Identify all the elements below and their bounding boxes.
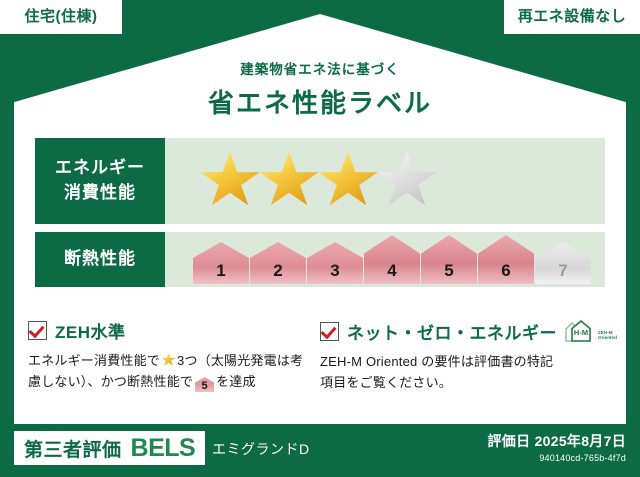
note-zeh-body-part1: エネルギー消費性能で bbox=[28, 353, 160, 368]
evaluation-date-label: 評価日 bbox=[487, 433, 530, 449]
bels-en-text: BELS bbox=[131, 434, 196, 463]
note-net-zero-energy: ネット・ゼロ・エネルギー H-M ZEH-M Oriented ZEH-M Or… bbox=[320, 318, 612, 393]
row-energy-label-line1: エネルギー bbox=[55, 156, 145, 181]
evaluation-date-value: 2025年8月7日 bbox=[535, 433, 626, 449]
star-3-filled bbox=[317, 152, 379, 211]
row-insulation-label: 断熱性能 bbox=[35, 232, 165, 287]
note-zeh-star-count: 3つ（太陽光発電 bbox=[177, 353, 277, 368]
row-insulation-performance: 断熱性能 1 2 3 4 5 6 7 bbox=[35, 232, 605, 287]
insulation-level-6: 6 bbox=[478, 235, 534, 284]
note-zeh-standard-title: ZEH水準 bbox=[55, 318, 126, 343]
bels-logo: 第三者評価 BELS bbox=[14, 431, 205, 465]
insulation-level-3-label: 3 bbox=[330, 262, 339, 284]
insulation-house-scale: 1 2 3 4 5 6 7 bbox=[193, 235, 592, 284]
insulation-level-7: 7 bbox=[535, 242, 591, 284]
row-energy-stars bbox=[165, 138, 605, 224]
inline-star-icon bbox=[161, 353, 176, 367]
note-zeh-standard-body: エネルギー消費性能で3つ（太陽光発電は考慮しない）、かつ断熱性能で5を達成 bbox=[28, 350, 306, 392]
zeh-m-oriented-logo: H-M ZEH-M Oriented bbox=[563, 318, 617, 344]
inline-house-icon: 5 bbox=[195, 377, 214, 392]
insulation-level-2: 2 bbox=[250, 242, 306, 284]
notes-section: ZEH水準 エネルギー消費性能で3つ（太陽光発電は考慮しない）、かつ断熱性能で5… bbox=[28, 318, 612, 393]
note-net-zero-body: ZEH-M Oriented の要件は評価書の特記 項目をご覧ください。 bbox=[320, 351, 598, 393]
badge-renewable-energy: 再エネ設備なし bbox=[504, 0, 640, 34]
rating-rows: エネルギー 消費性能 断熱性能 1 2 3 4 5 bbox=[35, 138, 605, 295]
insulation-level-2-label: 2 bbox=[273, 262, 282, 284]
footer-bar: 第三者評価 BELS エミグランドD 評価日 2025年8月7日 940140c… bbox=[0, 424, 640, 477]
building-name: エミグランドD bbox=[212, 439, 310, 459]
title-block: 建築物省エネ法に基づく 省エネ性能ラベル bbox=[0, 58, 640, 120]
star-2-filled bbox=[258, 152, 320, 211]
row-insulation-label-line1: 断熱性能 bbox=[64, 247, 136, 272]
row-insulation-levels: 1 2 3 4 5 6 7 bbox=[165, 232, 605, 287]
insulation-level-4: 4 bbox=[364, 235, 420, 284]
evaluation-id: 940140cd-765b-4f7d bbox=[487, 453, 626, 463]
checkbox-checked-icon bbox=[28, 321, 47, 340]
bels-jp-text: 第三者評価 bbox=[24, 435, 122, 462]
insulation-level-7-label: 7 bbox=[558, 262, 567, 284]
insulation-level-6-label: 6 bbox=[501, 262, 510, 284]
star-4-empty bbox=[376, 152, 438, 211]
evaluation-info: 評価日 2025年8月7日 940140cd-765b-4f7d bbox=[487, 431, 626, 463]
insulation-level-5: 5 bbox=[421, 235, 477, 284]
zeh-m-caption-line2: Oriented bbox=[598, 335, 617, 341]
note-net-zero-head: ネット・ゼロ・エネルギー H-M ZEH-M Oriented bbox=[320, 318, 598, 344]
evaluation-date: 評価日 2025年8月7日 bbox=[487, 431, 626, 451]
note-net-zero-body-line2: 項目をご覧ください。 bbox=[320, 372, 598, 393]
star-1-filled bbox=[199, 152, 261, 211]
note-zeh-standard-head: ZEH水準 bbox=[28, 318, 306, 343]
badge-building-type: 住宅(住棟) bbox=[0, 0, 122, 34]
energy-label-root: 住宅(住棟) 再エネ設備なし 建築物省エネ法に基づく 省エネ性能ラベル エネルギ… bbox=[0, 0, 640, 477]
row-energy-label: エネルギー 消費性能 bbox=[35, 138, 165, 224]
note-net-zero-title: ネット・ゼロ・エネルギー bbox=[347, 319, 557, 344]
insulation-level-3: 3 bbox=[307, 242, 363, 284]
note-zeh-body-part3: を達成 bbox=[216, 374, 256, 389]
row-energy-performance: エネルギー 消費性能 bbox=[35, 138, 605, 224]
insulation-level-4-label: 4 bbox=[387, 262, 396, 284]
note-zeh-standard: ZEH水準 エネルギー消費性能で3つ（太陽光発電は考慮しない）、かつ断熱性能で5… bbox=[28, 318, 320, 393]
checkbox-checked-icon bbox=[320, 322, 339, 341]
svg-text:H-M: H-M bbox=[574, 328, 588, 337]
insulation-level-5-label: 5 bbox=[444, 262, 453, 284]
row-energy-label-line2: 消費性能 bbox=[64, 181, 136, 206]
page-title: 省エネ性能ラベル bbox=[0, 83, 640, 120]
insulation-level-1-label: 1 bbox=[216, 262, 225, 284]
insulation-level-1: 1 bbox=[193, 242, 249, 284]
zeh-m-logo-caption: ZEH-M Oriented bbox=[598, 330, 617, 341]
title-subtitle: 建築物省エネ法に基づく bbox=[0, 58, 640, 78]
note-net-zero-body-line1: ZEH-M Oriented の要件は評価書の特記 bbox=[320, 351, 598, 372]
